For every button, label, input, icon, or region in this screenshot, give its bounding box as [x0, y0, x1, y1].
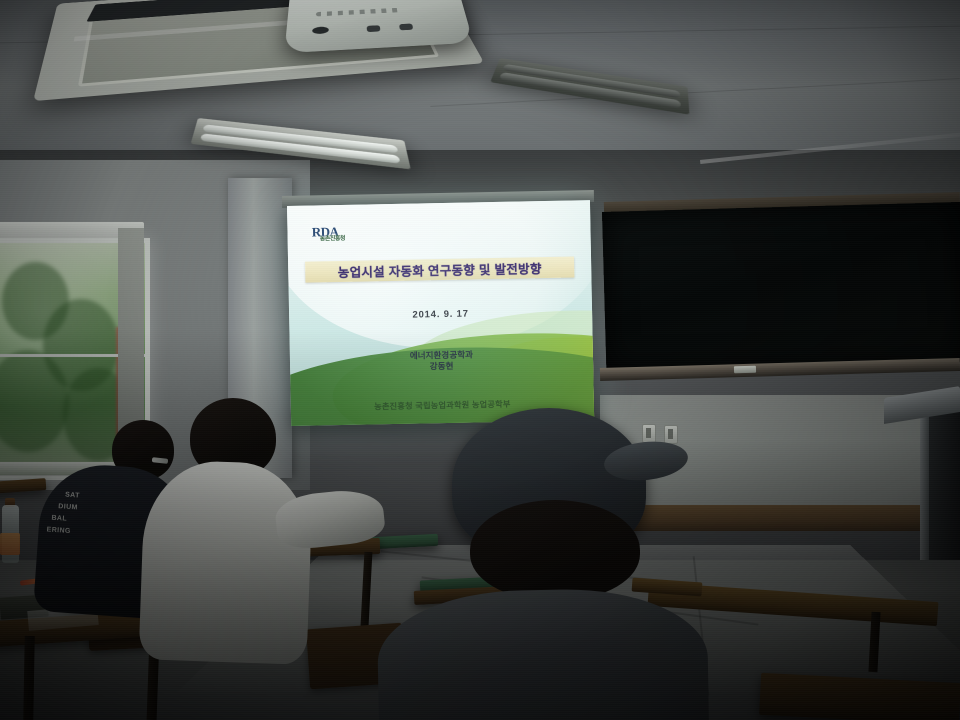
- projector-foot: [367, 25, 381, 32]
- bottle-label: [0, 533, 20, 555]
- wall-outlet-right[interactable]: [664, 425, 678, 444]
- torso: [139, 459, 314, 665]
- wall-outlet-left[interactable]: [642, 424, 656, 443]
- blackboard: [602, 202, 960, 372]
- shirt-text-line: BAL: [51, 514, 67, 524]
- rda-logo-subtitle: 농촌진흥청: [320, 236, 345, 243]
- projector-lens-icon: [312, 27, 329, 35]
- classroom-photo: RDA 농촌진흥청 농업시설 자동화 연구동향 및 발전방향 2014. 9. …: [0, 0, 960, 720]
- lectern-post: [920, 412, 929, 572]
- chalk-eraser: [734, 366, 756, 374]
- rda-logo: RDA 농촌진흥청: [312, 225, 345, 244]
- slide-title: 농업시설 자동화 연구동향 및 발전방향: [338, 258, 542, 281]
- desk-leg: [23, 636, 34, 720]
- shirt-text-line: SAT: [65, 491, 80, 501]
- shirt-text-line: DIUM: [58, 502, 78, 512]
- wall-wood-trim: [600, 505, 960, 531]
- lectern-side-panel: [929, 400, 960, 580]
- projector-vents: [316, 8, 401, 17]
- presentation-slide: RDA 농촌진흥청 농업시설 자동화 연구동향 및 발전방향 2014. 9. …: [287, 200, 594, 426]
- head: [470, 500, 640, 600]
- projector-foot: [399, 23, 413, 30]
- shirt-text-line: ERING: [46, 525, 71, 536]
- projection-screen: RDA 농촌진흥청 농업시설 자동화 연구동향 및 발전방향 2014. 9. …: [287, 200, 594, 426]
